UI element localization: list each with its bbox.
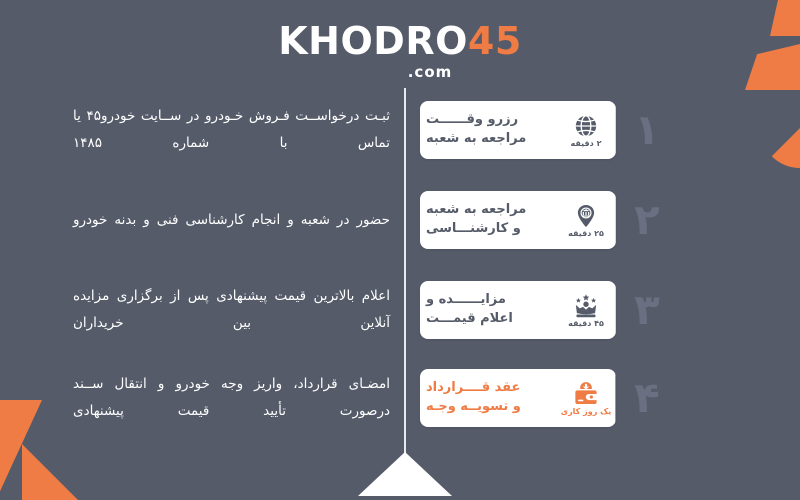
step-duration: ۲ دقیقه (571, 140, 602, 148)
step-number: ۳ (624, 289, 670, 331)
timeline-step: حضور در شعبه و انجام کارشناسی فنی و بدنه… (0, 184, 800, 256)
step-number: ۲ (624, 199, 670, 241)
location-pin-bank-icon (573, 203, 599, 229)
step-card-title-line2: و تسویــه وجـه (426, 398, 521, 417)
step-card-icon-column: ۲ دقیقه (557, 101, 616, 159)
decorative-shape-bottom-left-2 (22, 444, 78, 500)
logo-text-45: 45 (468, 19, 522, 63)
timeline-arrow-icon (358, 452, 452, 496)
step-number: ۱ (624, 109, 670, 151)
step-card-title: عقد قــــرارداد و تسویــه وجـه (420, 369, 557, 427)
step-card-title: مزایــــــده و اعلام قیمـــت (420, 281, 557, 339)
wallet-deposit-icon (573, 381, 599, 407)
logo-text-tld: .com (60, 63, 800, 81)
auction-winner-icon (573, 293, 599, 319)
globe-icon (573, 113, 599, 139)
step-card[interactable]: مراجعه به شعبه و کارشنـــاسی ۲۵ دقیقه (420, 191, 616, 249)
step-description: اعلام بالاترین قیمت پیشنهادی پس از برگزا… (73, 283, 390, 337)
timeline-step: ثبـت درخواســت فـروش خـودرو در ســایت خو… (0, 94, 800, 166)
step-description: امضـای قرارداد، واریز وجه خودرو و انتقال… (73, 371, 390, 425)
step-duration: ۲۵ دقیقه (568, 230, 604, 238)
step-duration: یک روز کاری (561, 408, 612, 416)
step-card-title-line2: مراجعه به شعبه (426, 130, 526, 149)
brand-logo: KHODRO45 .com (0, 22, 800, 81)
logo-wordmark: KHODRO45 (0, 22, 800, 60)
step-description: ثبـت درخواســت فـروش خـودرو در ســایت خو… (73, 103, 390, 157)
step-card-title-line1: مزایــــــده و (426, 291, 506, 310)
step-card[interactable]: رزرو وقــــــت مراجعه به شعبه ۲ دقیقه (420, 101, 616, 159)
step-card-icon-column: ۲۵ دقیقه (557, 191, 616, 249)
step-card[interactable]: عقد قــــرارداد و تسویــه وجـه یک روز کا… (420, 369, 616, 427)
step-duration: ۴۵ دقیقه (568, 320, 604, 328)
step-description: حضور در شعبه و انجام کارشناسی فنی و بدنه… (73, 207, 390, 234)
step-card-icon-column: ۴۵ دقیقه (557, 281, 616, 339)
step-card-title-line1: رزرو وقــــــت (426, 111, 518, 130)
step-card[interactable]: مزایــــــده و اعلام قیمـــت ۴۵ دقیقه (420, 281, 616, 339)
step-card-title: مراجعه به شعبه و کارشنـــاسی (420, 191, 557, 249)
step-card-title-line2: اعلام قیمـــت (426, 310, 513, 329)
step-number: ۴ (624, 377, 670, 419)
step-card-title-line1: عقد قــــرارداد (426, 379, 520, 398)
timeline-step: امضـای قرارداد، واریز وجه خودرو و انتقال… (0, 362, 800, 434)
step-card-icon-column: یک روز کاری (557, 369, 616, 427)
infographic-canvas: KHODRO45 .com ثبـت درخواســت فـروش خـودر… (0, 0, 800, 500)
step-card-title: رزرو وقــــــت مراجعه به شعبه (420, 101, 557, 159)
logo-text-khodro: KHODRO (278, 19, 468, 63)
timeline-step: اعلام بالاترین قیمت پیشنهادی پس از برگزا… (0, 274, 800, 346)
step-card-title-line1: مراجعه به شعبه (426, 201, 526, 220)
step-card-title-line2: و کارشنـــاسی (426, 220, 521, 239)
